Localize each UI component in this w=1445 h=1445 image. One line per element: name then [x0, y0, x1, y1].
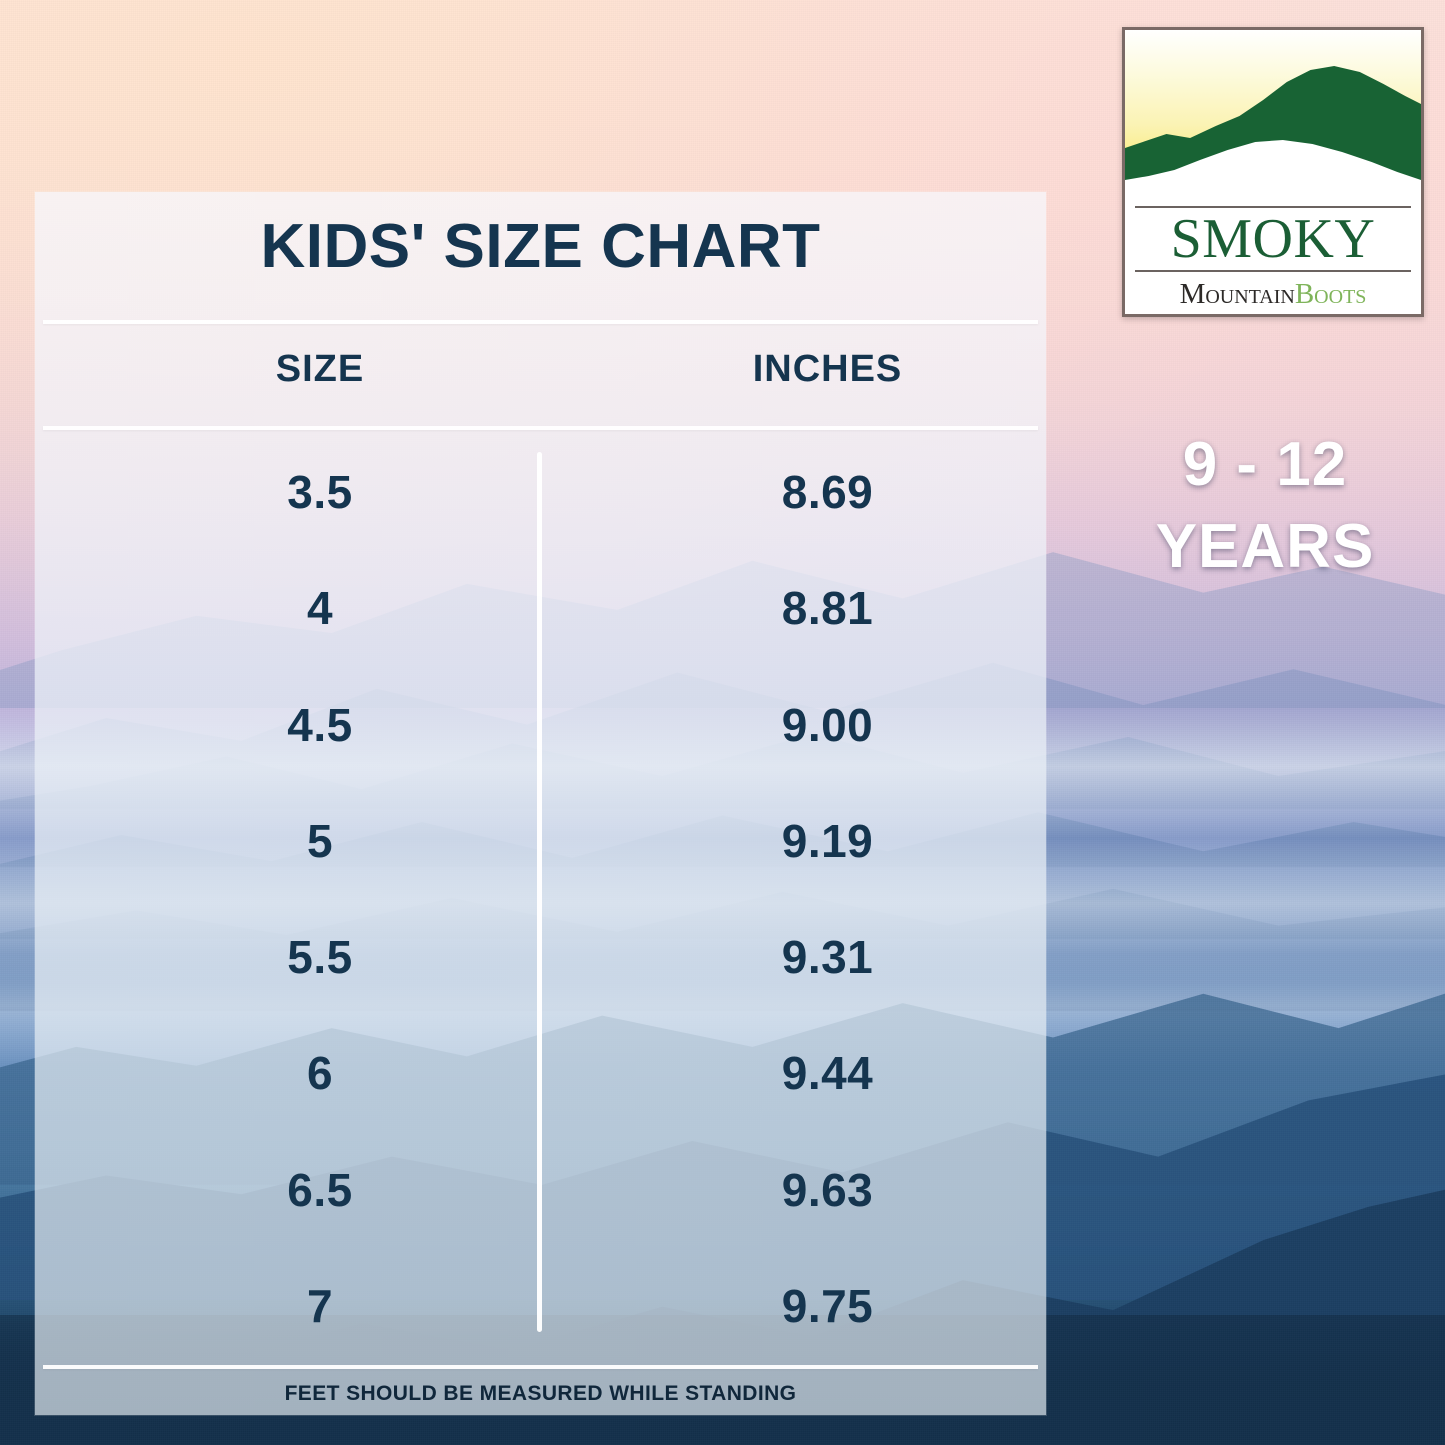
cell-size: 6	[135, 1046, 505, 1100]
table-row: 7 9.75	[35, 1248, 1046, 1364]
column-header-inches: INCHES	[635, 348, 1020, 391]
logo-word-boots: Boots	[1295, 280, 1367, 309]
page-title: KIDS' SIZE CHART	[35, 216, 1046, 278]
table-row: 3.5 8.69	[35, 434, 1046, 550]
cell-size: 4	[135, 581, 505, 635]
table-row: 5 9.19	[35, 783, 1046, 899]
measurement-note: FEET SHOULD BE MEASURED WHILE STANDING	[35, 1382, 1046, 1406]
cell-inches: 9.63	[635, 1163, 1020, 1217]
cell-inches: 9.31	[635, 930, 1020, 984]
column-header-size: SIZE	[135, 348, 505, 391]
size-chart-rows: 3.5 8.69 4 8.81 4.5 9.00 5 9.19 5.5 9.31…	[35, 434, 1046, 1364]
cell-inches: 8.69	[635, 465, 1020, 519]
cell-size: 4.5	[135, 698, 505, 752]
cell-inches: 9.00	[635, 698, 1020, 752]
divider-above-footnote	[43, 1365, 1038, 1369]
age-range-line2: YEARS	[1100, 506, 1430, 588]
cell-size: 5.5	[135, 930, 505, 984]
logo-mountain-icon	[1125, 30, 1421, 202]
table-row: 4.5 9.00	[35, 667, 1046, 783]
divider-under-title	[43, 320, 1038, 324]
brand-logo: SMOKY MountainBoots	[1122, 27, 1424, 317]
cell-size: 5	[135, 814, 505, 868]
logo-word-mountain: Mountain	[1180, 280, 1295, 309]
logo-rule-bottom	[1135, 270, 1411, 272]
age-range-line1: 9 - 12	[1183, 430, 1348, 499]
cell-inches: 9.19	[635, 814, 1020, 868]
cell-size: 6.5	[135, 1163, 505, 1217]
cell-inches: 9.44	[635, 1046, 1020, 1100]
table-row: 4 8.81	[35, 550, 1046, 666]
table-row: 6.5 9.63	[35, 1132, 1046, 1248]
cell-size: 3.5	[135, 465, 505, 519]
table-row: 5.5 9.31	[35, 899, 1046, 1015]
divider-under-headers	[43, 426, 1038, 430]
cell-size: 7	[135, 1279, 505, 1333]
size-chart-panel: KIDS' SIZE CHART SIZE INCHES 3.5 8.69 4 …	[35, 192, 1046, 1415]
age-range-callout: 9 - 12 YEARS	[1100, 424, 1430, 588]
table-row: 6 9.44	[35, 1015, 1046, 1131]
logo-wordmark-primary: SMOKY	[1125, 210, 1421, 268]
cell-inches: 8.81	[635, 581, 1020, 635]
logo-wordmark-secondary: MountainBoots	[1125, 274, 1421, 314]
size-chart-graphic: KIDS' SIZE CHART SIZE INCHES 3.5 8.69 4 …	[0, 0, 1445, 1445]
cell-inches: 9.75	[635, 1279, 1020, 1333]
